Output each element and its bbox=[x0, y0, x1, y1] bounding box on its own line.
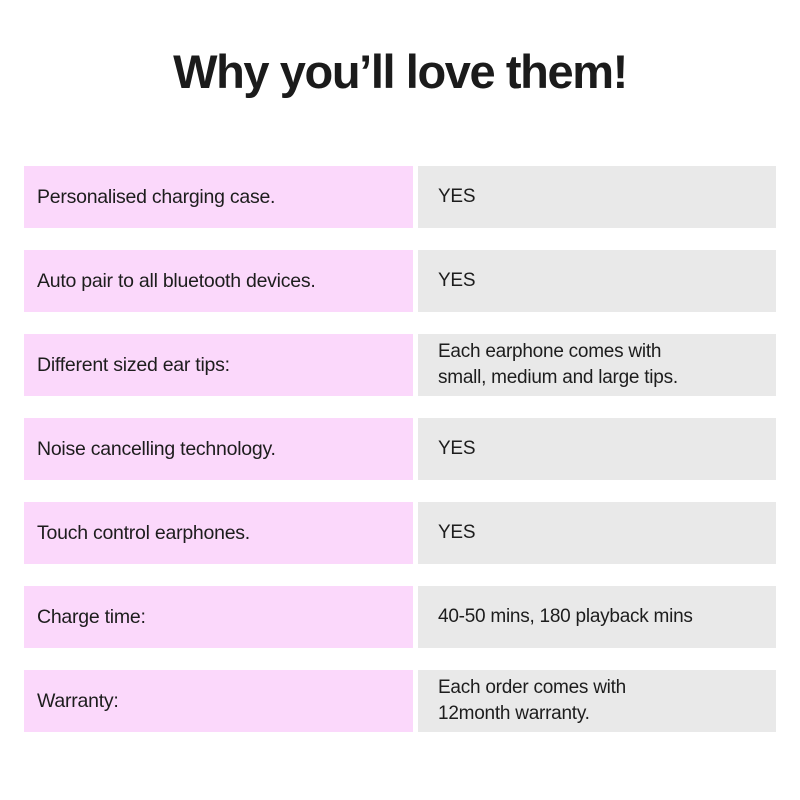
feature-value-text: Each earphone comes with small, medium a… bbox=[438, 339, 678, 391]
feature-value-text: YES bbox=[438, 436, 475, 462]
feature-label-text: Charge time: bbox=[37, 604, 146, 630]
feature-value-line-2: 12month warranty. bbox=[438, 701, 626, 727]
feature-value-line-1: Each earphone comes with bbox=[438, 339, 678, 365]
feature-value-line-1: YES bbox=[438, 268, 475, 294]
table-row: Auto pair to all bluetooth devices. YES bbox=[24, 250, 776, 312]
feature-value-line-2: small, medium and large tips. bbox=[438, 365, 678, 391]
feature-value-line-1: YES bbox=[438, 520, 475, 546]
feature-value-line-1: 40-50 mins, 180 playback mins bbox=[438, 604, 693, 630]
feature-label-cell: Personalised charging case. bbox=[24, 166, 413, 228]
table-row: Warranty: Each order comes with 12month … bbox=[24, 670, 776, 732]
feature-label-cell: Charge time: bbox=[24, 586, 413, 648]
feature-label-cell: Noise cancelling technology. bbox=[24, 418, 413, 480]
feature-label-cell: Touch control earphones. bbox=[24, 502, 413, 564]
feature-comparison-page: Why you’ll love them! Personalised charg… bbox=[0, 0, 800, 800]
feature-value-cell: Each earphone comes with small, medium a… bbox=[418, 334, 776, 396]
table-row: Different sized ear tips: Each earphone … bbox=[24, 334, 776, 396]
feature-value-line-1: YES bbox=[438, 436, 475, 462]
feature-label-cell: Warranty: bbox=[24, 670, 413, 732]
feature-value-cell: YES bbox=[418, 418, 776, 480]
feature-value-line-1: Each order comes with bbox=[438, 675, 626, 701]
table-row: Touch control earphones. YES bbox=[24, 502, 776, 564]
feature-label-text: Noise cancelling technology. bbox=[37, 436, 276, 462]
feature-value-cell: 40-50 mins, 180 playback mins bbox=[418, 586, 776, 648]
feature-value-text: YES bbox=[438, 268, 475, 294]
feature-value-cell: YES bbox=[418, 250, 776, 312]
feature-label-text: Different sized ear tips: bbox=[37, 352, 230, 378]
feature-label-cell: Auto pair to all bluetooth devices. bbox=[24, 250, 413, 312]
feature-label-text: Personalised charging case. bbox=[37, 184, 275, 210]
table-row: Charge time: 40-50 mins, 180 playback mi… bbox=[24, 586, 776, 648]
feature-value-cell: YES bbox=[418, 502, 776, 564]
feature-label-cell: Different sized ear tips: bbox=[24, 334, 413, 396]
table-row: Personalised charging case. YES bbox=[24, 166, 776, 228]
feature-value-text: YES bbox=[438, 520, 475, 546]
feature-value-text: YES bbox=[438, 184, 475, 210]
feature-value-line-1: YES bbox=[438, 184, 475, 210]
feature-table: Personalised charging case. YES Auto pai… bbox=[24, 166, 776, 732]
feature-value-cell: Each order comes with 12month warranty. bbox=[418, 670, 776, 732]
feature-value-cell: YES bbox=[418, 166, 776, 228]
feature-label-text: Touch control earphones. bbox=[37, 520, 250, 546]
feature-label-text: Warranty: bbox=[37, 688, 119, 714]
table-row: Noise cancelling technology. YES bbox=[24, 418, 776, 480]
feature-label-text: Auto pair to all bluetooth devices. bbox=[37, 268, 316, 294]
feature-value-text: Each order comes with 12month warranty. bbox=[438, 675, 626, 727]
feature-value-text: 40-50 mins, 180 playback mins bbox=[438, 604, 693, 630]
page-title: Why you’ll love them! bbox=[0, 44, 800, 100]
